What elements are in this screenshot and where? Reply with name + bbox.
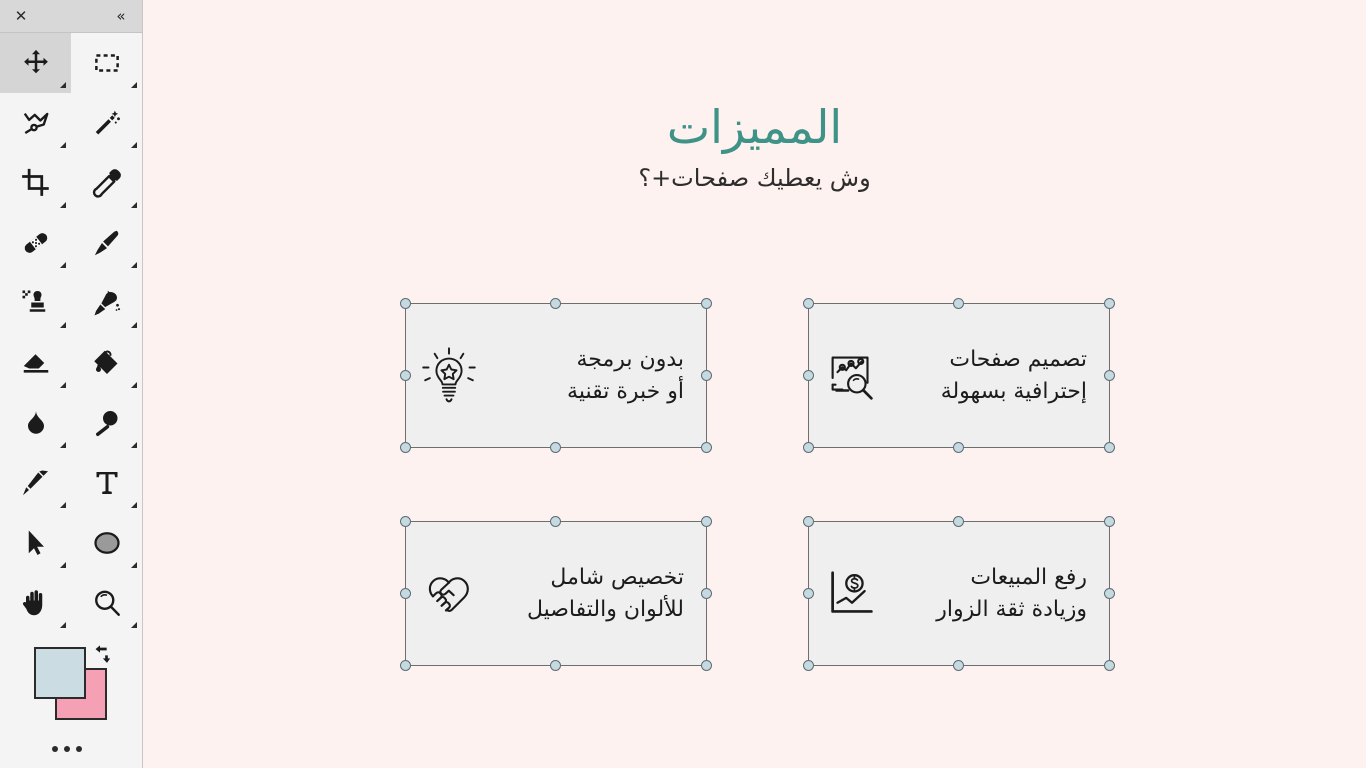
marquee-tool-submenu-arrow[interactable] (131, 82, 137, 88)
path-selection-tool-submenu-arrow[interactable] (60, 562, 66, 568)
resize-handle-top-left[interactable] (400, 298, 411, 309)
pen-tool-submenu-arrow[interactable] (60, 502, 66, 508)
page-title: المميزات (143, 101, 1366, 154)
resize-handle-top-left[interactable] (803, 298, 814, 309)
resize-handle-middle-left[interactable] (400, 588, 411, 599)
resize-handle-bottom-center[interactable] (953, 442, 964, 453)
resize-handle-bottom-center[interactable] (550, 442, 561, 453)
type-tool-submenu-arrow[interactable] (131, 502, 137, 508)
resize-handle-top-right[interactable] (701, 298, 712, 309)
healing-brush-tool-submenu-arrow[interactable] (60, 262, 66, 268)
lasso-tool-submenu-arrow[interactable] (60, 142, 66, 148)
slide-canvas[interactable]: المميزات وش يعطيك صفحات+؟ بدون برمجة أو … (143, 0, 1366, 768)
lasso-tool[interactable] (0, 93, 71, 153)
clone-stamp-tool[interactable] (0, 273, 71, 333)
feature-card-text: تخصيص شامل للألوان والتفاصيل (496, 562, 684, 626)
chart-search-icon (819, 343, 885, 409)
more-tools-row (0, 730, 142, 768)
eyedropper-tool-submenu-arrow[interactable] (131, 202, 137, 208)
hand-tool[interactable] (0, 573, 71, 633)
resize-handle-bottom-center[interactable] (550, 660, 561, 671)
resize-handle-bottom-center[interactable] (953, 660, 964, 671)
history-brush-tool-submenu-arrow[interactable] (131, 322, 137, 328)
paint-bucket-tool-submenu-arrow[interactable] (131, 382, 137, 388)
eyedropper-tool[interactable] (71, 153, 142, 213)
blur-tool[interactable] (0, 393, 71, 453)
editor-window: ✕ « (0, 0, 1366, 768)
resize-handle-middle-left[interactable] (803, 588, 814, 599)
resize-handle-middle-right[interactable] (701, 370, 712, 381)
resize-handle-top-center[interactable] (550, 298, 561, 309)
type-tool[interactable] (71, 453, 142, 513)
color-swatches (0, 638, 142, 730)
foreground-color-swatch[interactable] (34, 647, 86, 699)
feature-card-professional-design[interactable]: تصميم صفحات إحترافية بسهولة (808, 303, 1110, 448)
ellipse-shape-tool[interactable] (71, 513, 142, 573)
feature-card-text: رفع المبيعات وزيادة ثقة الزوار (899, 562, 1087, 626)
resize-handle-middle-left[interactable] (400, 370, 411, 381)
magic-wand-tool-submenu-arrow[interactable] (131, 142, 137, 148)
feature-card-text: تصميم صفحات إحترافية بسهولة (899, 344, 1087, 408)
collapse-panel-icon[interactable]: « (110, 5, 132, 27)
more-tools-icon[interactable] (52, 746, 82, 752)
magic-wand-tool[interactable] (71, 93, 142, 153)
resize-handle-bottom-left[interactable] (400, 442, 411, 453)
page-subtitle: وش يعطيك صفحات+؟ (143, 163, 1366, 194)
resize-handle-bottom-right[interactable] (701, 660, 712, 671)
resize-handle-top-left[interactable] (400, 516, 411, 527)
swap-colors-icon[interactable] (93, 644, 113, 664)
growth-dollar-chart-icon (819, 561, 885, 627)
resize-handle-bottom-left[interactable] (400, 660, 411, 671)
tool-grid (0, 33, 142, 633)
resize-handle-bottom-left[interactable] (803, 660, 814, 671)
lightbulb-star-icon (416, 343, 482, 409)
hand-tool-submenu-arrow[interactable] (60, 622, 66, 628)
feature-card-full-customization[interactable]: تخصيص شامل للألوان والتفاصيل (405, 521, 707, 666)
dodge-tool-submenu-arrow[interactable] (131, 442, 137, 448)
brush-tool[interactable] (71, 213, 142, 273)
tools-panel: ✕ « (0, 0, 143, 768)
resize-handle-top-left[interactable] (803, 516, 814, 527)
clone-stamp-tool-submenu-arrow[interactable] (60, 322, 66, 328)
paint-bucket-tool[interactable] (71, 333, 142, 393)
move-tool[interactable] (0, 33, 71, 93)
resize-handle-top-center[interactable] (953, 516, 964, 527)
tools-panel-titlebar: ✕ « (0, 0, 142, 33)
resize-handle-top-right[interactable] (1104, 516, 1115, 527)
resize-handle-middle-right[interactable] (1104, 588, 1115, 599)
healing-brush-tool[interactable] (0, 213, 71, 273)
feature-card-no-coding[interactable]: بدون برمجة أو خبرة تقنية (405, 303, 707, 448)
brush-tool-submenu-arrow[interactable] (131, 262, 137, 268)
heart-handshake-icon (416, 561, 482, 627)
feature-card-text: بدون برمجة أو خبرة تقنية (496, 344, 684, 408)
resize-handle-bottom-right[interactable] (701, 442, 712, 453)
dodge-tool[interactable] (71, 393, 142, 453)
resize-handle-middle-right[interactable] (701, 588, 712, 599)
resize-handle-top-center[interactable] (550, 516, 561, 527)
blur-tool-submenu-arrow[interactable] (60, 442, 66, 448)
resize-handle-bottom-left[interactable] (803, 442, 814, 453)
crop-tool[interactable] (0, 153, 71, 213)
history-brush-tool[interactable] (71, 273, 142, 333)
resize-handle-top-right[interactable] (701, 516, 712, 527)
feature-card-boost-sales[interactable]: رفع المبيعات وزيادة ثقة الزوار (808, 521, 1110, 666)
pen-tool[interactable] (0, 453, 71, 513)
resize-handle-bottom-right[interactable] (1104, 442, 1115, 453)
eraser-tool[interactable] (0, 333, 71, 393)
crop-tool-submenu-arrow[interactable] (60, 202, 66, 208)
zoom-tool-submenu-arrow[interactable] (131, 622, 137, 628)
resize-handle-middle-left[interactable] (803, 370, 814, 381)
eraser-tool-submenu-arrow[interactable] (60, 382, 66, 388)
resize-handle-middle-right[interactable] (1104, 370, 1115, 381)
resize-handle-top-center[interactable] (953, 298, 964, 309)
close-icon[interactable]: ✕ (10, 5, 32, 27)
zoom-tool[interactable] (71, 573, 142, 633)
path-selection-tool[interactable] (0, 513, 71, 573)
resize-handle-bottom-right[interactable] (1104, 660, 1115, 671)
ellipse-shape-tool-submenu-arrow[interactable] (131, 562, 137, 568)
resize-handle-top-right[interactable] (1104, 298, 1115, 309)
move-tool-submenu-arrow[interactable] (60, 82, 66, 88)
rectangular-marquee-tool[interactable] (71, 33, 142, 93)
